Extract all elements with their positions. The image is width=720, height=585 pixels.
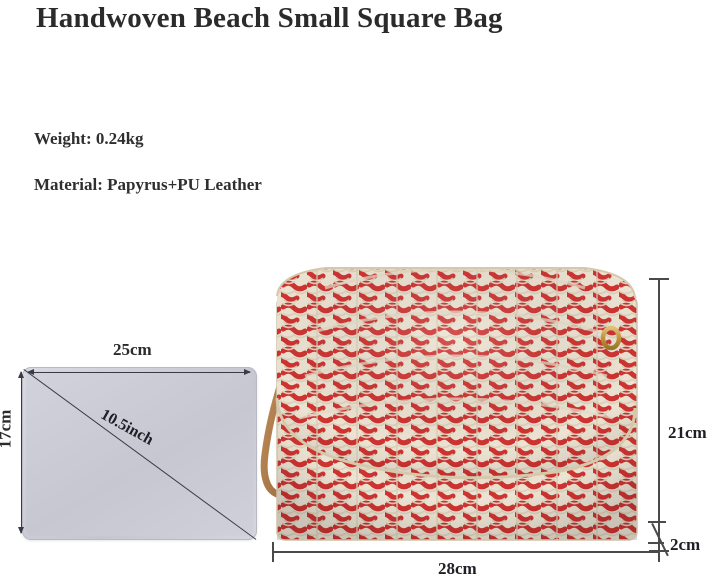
- dimension-cap-top: [649, 278, 669, 280]
- spec-weight: Weight: 0.24kg: [34, 129, 144, 149]
- dimension-line-vertical: [658, 278, 660, 552]
- height-measure-line: [21, 372, 22, 533]
- dimension-cap-left: [272, 542, 274, 562]
- dimension-tick-lower: [648, 542, 664, 544]
- spec-material: Material: Papyrus+PU Leather: [34, 175, 262, 195]
- bag-illustration: [255, 258, 655, 548]
- size-reference-diagram: [0, 336, 290, 585]
- dimension-line-horizontal: [272, 551, 660, 553]
- dimension-label-depth: 2cm: [670, 535, 700, 555]
- page-title: Handwoven Beach Small Square Bag: [36, 2, 503, 35]
- size-reference-height-label: 17cm: [0, 410, 15, 449]
- dimension-label-width: 28cm: [438, 559, 477, 579]
- product-image-bag: [255, 258, 655, 548]
- width-measure-line: [28, 372, 250, 373]
- dimension-label-height: 21cm: [668, 423, 707, 443]
- dimension-tick-upper: [648, 521, 666, 523]
- size-reference-width-label: 25cm: [113, 340, 152, 360]
